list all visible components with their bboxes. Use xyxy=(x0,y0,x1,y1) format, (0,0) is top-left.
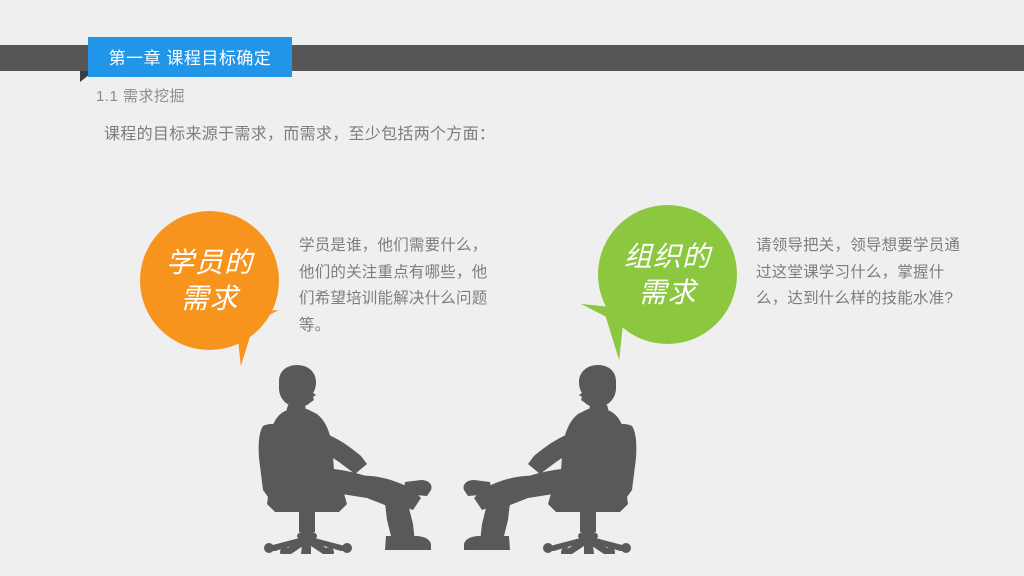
slide-canvas: 第一章 课程目标确定 1.1 需求挖掘 课程的目标来源于需求，而需求，至少包括两… xyxy=(0,0,1024,576)
speech-bubble-learner-need-label: 学员的 需求 xyxy=(166,245,253,317)
seated-businessman-icon xyxy=(462,364,640,554)
paragraph-organization-need: 请领导把关，领导想要学员通过这堂课学习什么，掌握什么，达到什么样的技能水准? xyxy=(756,233,968,313)
chapter-tag: 第一章 课程目标确定 xyxy=(88,37,292,77)
seated-businessman-left-figure xyxy=(255,364,433,554)
seated-businessman-icon xyxy=(255,364,433,554)
paragraph-learner-need: 学员是谁，他们需要什么，他们的关注重点有哪些，他们希望培训能解决什么问题等。 xyxy=(299,233,499,340)
speech-bubble-learner-need: 学员的 需求 xyxy=(140,211,279,350)
speech-bubble-organization-need-label: 组织的 需求 xyxy=(624,239,711,311)
intro-line: 课程的目标来源于需求，而需求，至少包括两个方面： xyxy=(104,120,495,144)
chapter-tag-label: 第一章 课程目标确定 xyxy=(109,44,272,69)
seated-businessman-right-figure xyxy=(462,364,640,554)
speech-bubble-organization-need: 组织的 需求 xyxy=(598,205,737,344)
section-heading: 1.1 需求挖掘 xyxy=(96,85,185,106)
